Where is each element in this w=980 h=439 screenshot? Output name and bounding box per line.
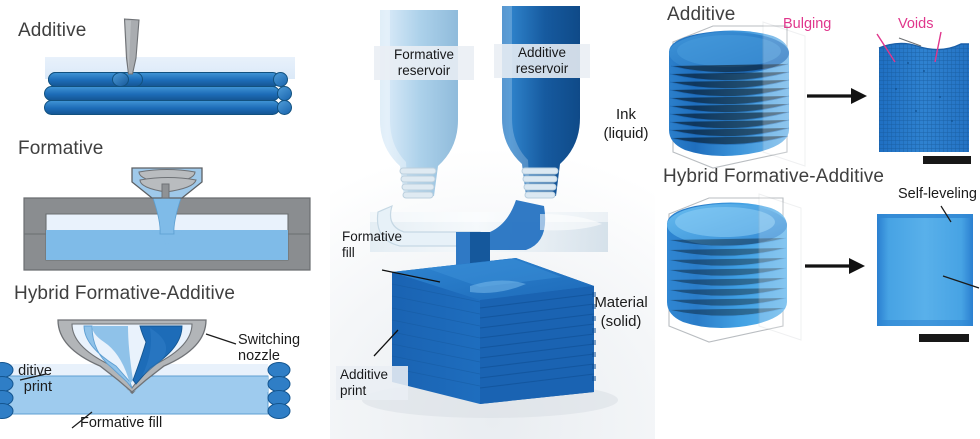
schematic-additive-heading: Additive bbox=[18, 20, 86, 42]
cross-section-graphics bbox=[655, 0, 980, 439]
hybrid-arrow bbox=[805, 258, 865, 274]
additive-reservoir-tag: Additive reservoir bbox=[494, 44, 590, 78]
additive-cylinder bbox=[669, 22, 805, 168]
switching-nozzle-label: Switching nozzle bbox=[238, 332, 300, 364]
hybrid-cylinder bbox=[667, 194, 801, 342]
formative-fill-label: Formative fill bbox=[80, 415, 162, 431]
additive-bead-row bbox=[44, 86, 280, 101]
additive-nozzle-icon bbox=[110, 18, 152, 80]
additive-deposit-blob bbox=[112, 72, 129, 87]
ink-liquid-note: Ink (liquid) bbox=[598, 106, 654, 144]
additive-bead-cap bbox=[277, 100, 292, 115]
hybrid-cross-section bbox=[877, 214, 973, 326]
additive-bead-cap bbox=[273, 72, 288, 87]
additive-arrow bbox=[807, 88, 867, 104]
voids-label: Voids bbox=[898, 16, 933, 32]
additive-bead-row bbox=[44, 100, 280, 115]
material-solid-note: Material (solid) bbox=[588, 294, 654, 332]
photo-panel: Formative reservoir Additive reservoir I… bbox=[330, 0, 655, 439]
figure-root: Additive Formative bbox=[0, 0, 980, 439]
additive-print-photo-label: Additive print bbox=[336, 366, 408, 400]
formative-fill-photo-label: Formative fill bbox=[338, 228, 414, 262]
scale-bar-hybrid bbox=[919, 334, 969, 342]
additive-print-label: ditive print bbox=[0, 363, 52, 395]
formative-diagram bbox=[22, 168, 312, 268]
cross-section-panel: Additive Hybrid Formative-Additive bbox=[655, 0, 980, 439]
schematic-formative-heading: Formative bbox=[18, 138, 103, 160]
additive-bead-cap bbox=[277, 86, 292, 101]
schematic-panel: Additive Formative bbox=[0, 0, 330, 439]
schematic-hybrid-heading: Hybrid Formative-Additive bbox=[14, 283, 235, 305]
self-leveling-label: Self-leveling bbox=[898, 186, 977, 202]
additive-cross-section bbox=[879, 43, 969, 152]
scale-bar-additive bbox=[923, 156, 971, 164]
bulging-label: Bulging bbox=[783, 16, 831, 32]
formative-reservoir-tag: Formative reservoir bbox=[374, 46, 474, 80]
